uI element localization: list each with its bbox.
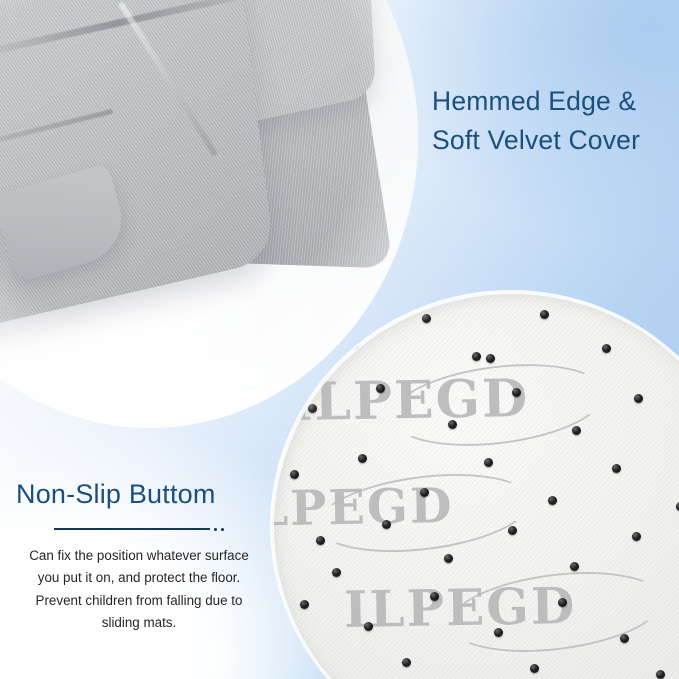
divider (10, 528, 268, 531)
body-line-1: Can fix the position whatever surface (10, 545, 268, 568)
divider-line (54, 528, 210, 530)
body-line-2: you put it on, and protect the floor. (10, 567, 268, 590)
feature-headline-hemmed-edge: Hemmed Edge & Soft Velvet Cover (432, 82, 679, 160)
headline-line-1: Hemmed Edge & (432, 82, 679, 121)
body-line-4: sliding mats. (10, 612, 268, 635)
body-line-3: Prevent children from falling due to (10, 590, 268, 613)
divider-dot (214, 528, 217, 531)
feature-headline-non-slip: Non-Slip Buttom (10, 478, 268, 512)
feature-body-non-slip: Can fix the position whatever surface yo… (10, 545, 268, 635)
feature-block-non-slip: Non-Slip Buttom Can fix the position wha… (10, 478, 268, 635)
headline-line-2: Soft Velvet Cover (432, 121, 679, 160)
divider-dot (221, 528, 224, 531)
product-photo-nonslip-mat: ILPEGD ILPEGD ILPEGD (272, 292, 679, 679)
grip-dot (664, 318, 673, 327)
product-feature-infographic: ILPEGD ILPEGD ILPEGD Hemmed Edge & Soft … (0, 0, 679, 679)
